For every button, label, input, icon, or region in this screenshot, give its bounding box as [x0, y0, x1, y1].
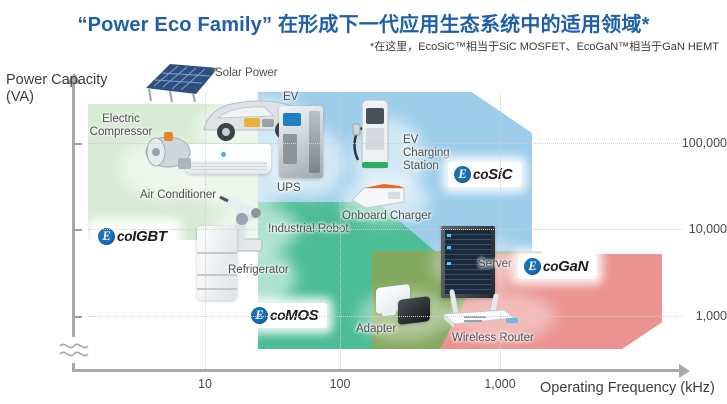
x-tick-label: 1,000 — [470, 377, 530, 391]
page-subtitle: *在这里，EcoSiC™相当于SiC MOSFET、EcoGaN™相当于GaN … — [370, 38, 719, 54]
label-wireless-router: Wireless Router — [452, 332, 534, 345]
badge-ecogan-label: coGaN — [543, 258, 588, 275]
badge-ecosic[interactable]: E coSiC — [448, 162, 521, 187]
x-tick-label: 10 — [175, 377, 235, 391]
label-electric-compressor: Electric Compressor — [84, 113, 158, 139]
badge-ecosic-label: coSiC — [473, 166, 512, 183]
onboard-charger-image — [348, 180, 408, 212]
y-tick-label: 10,000 — [657, 222, 727, 236]
eco-logo-icon: E — [98, 228, 115, 245]
y-axis — [72, 82, 75, 372]
gridline-v — [500, 92, 501, 369]
label-refrigerator: Refrigerator — [228, 264, 289, 277]
badge-ecogan[interactable]: E coGaN — [518, 254, 597, 279]
label-solar-power: Solar Power — [215, 67, 278, 80]
y-axis-break-icon — [58, 337, 90, 363]
y-tick-mark — [75, 143, 82, 145]
y-tick-label: 1,000 — [657, 309, 727, 323]
wireless-router-image — [430, 286, 520, 330]
gridline-v — [205, 92, 206, 369]
label-ups: UPS — [277, 182, 301, 195]
x-tick-label: 100 — [310, 377, 370, 391]
x-axis-arrow-icon — [679, 364, 690, 378]
gridline-h — [88, 143, 682, 144]
x-axis-title: Operating Frequency (kHz) — [540, 380, 715, 396]
gridline-v — [340, 92, 341, 369]
label-adapter: Adapter — [356, 323, 396, 336]
ev-charging-station-image — [352, 98, 398, 174]
label-onboard-charger: Onboard Charger — [342, 210, 432, 223]
page-title: “Power Eco Family” 在形成下一代应用生态系统中的适用领域* — [0, 8, 727, 37]
y-axis-title: Power Capacity(VA) — [6, 72, 108, 106]
air-conditioner-image — [185, 144, 271, 174]
label-server: Server — [478, 258, 512, 271]
eco-logo-icon: E — [524, 258, 541, 275]
ups-image — [279, 106, 323, 178]
gridline-h — [88, 229, 682, 230]
x-axis — [72, 369, 682, 372]
y-tick-mark — [75, 316, 82, 318]
gridline-h — [88, 316, 682, 317]
y-tick-mark — [75, 229, 82, 231]
adapter-black-image — [398, 296, 430, 325]
badge-ecoigbt[interactable]: E coIGBT — [92, 224, 176, 249]
label-ev: EV — [283, 91, 298, 104]
eco-logo-icon: E — [454, 166, 471, 183]
badge-ecoigbt-label: coIGBT — [117, 228, 167, 245]
y-tick-label: 100,000 — [657, 136, 727, 150]
refrigerator-image — [197, 226, 237, 300]
